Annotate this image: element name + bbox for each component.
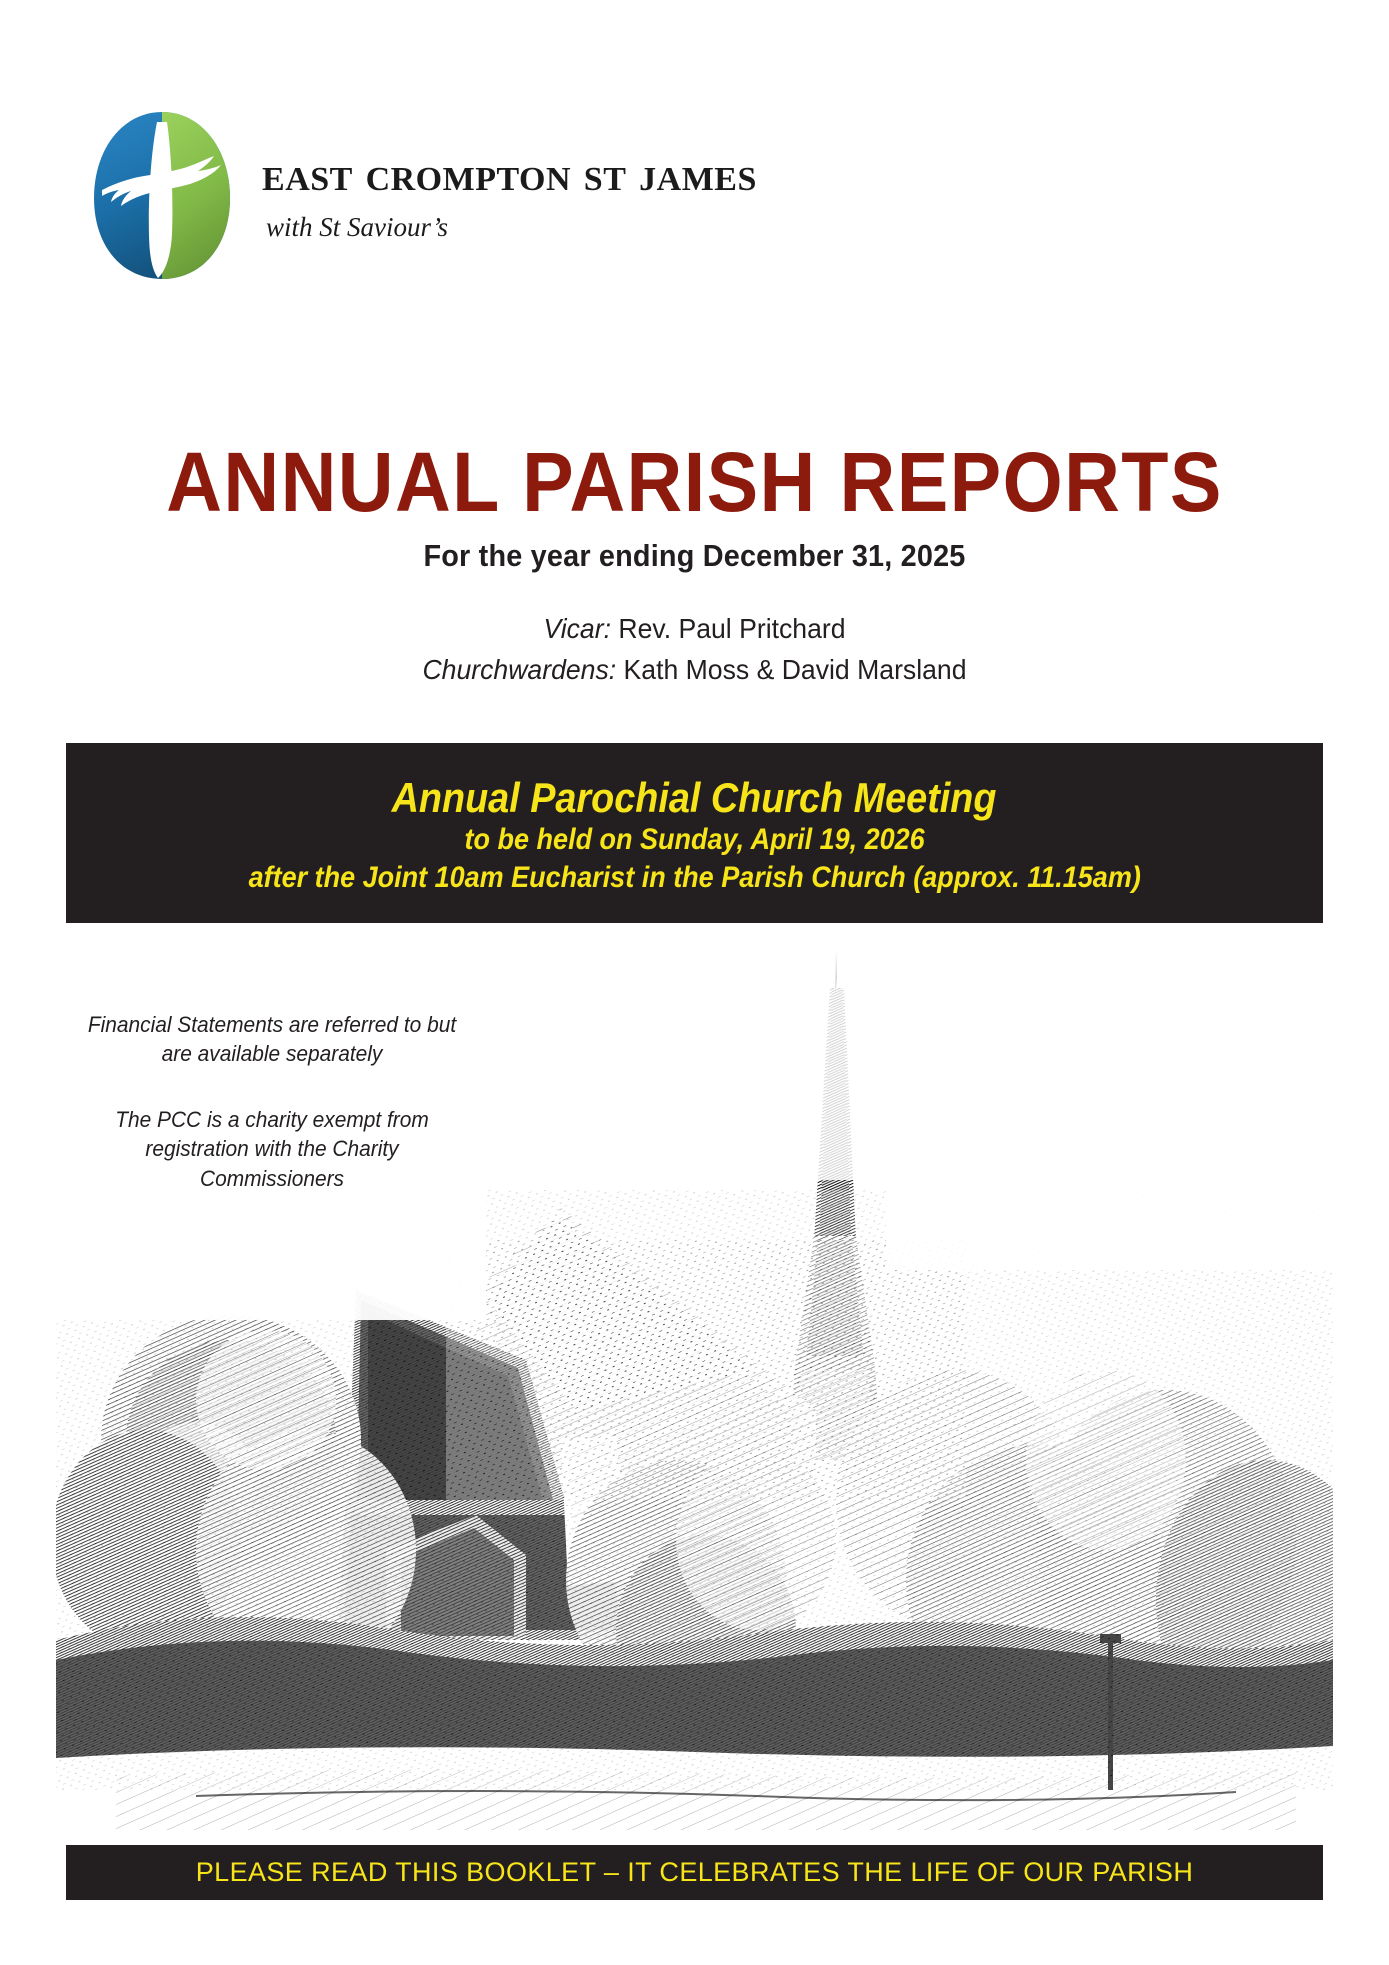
clergy-block: Vicar: Rev. Paul Pritchard Churchwardens… xyxy=(35,608,1355,690)
meeting-date: to be held on Sunday, April 19, 2026 xyxy=(464,821,924,859)
title-block: ANNUAL PARISH REPORTS For the year endin… xyxy=(0,440,1389,574)
churchwardens-line: Churchwardens: Kath Moss & David Marslan… xyxy=(35,649,1355,690)
church-subname: with St Saviour’s xyxy=(266,212,757,243)
church-name: East Crompton St James xyxy=(262,148,757,199)
notes-block: Financial Statements are referred to but… xyxy=(62,1010,482,1193)
vicar-name: Rev. Paul Pritchard xyxy=(618,613,845,644)
footer-banner-text: PLEASE READ THIS BOOKLET – IT CELEBRATES… xyxy=(196,1857,1193,1888)
financial-statements-note: Financial Statements are referred to but… xyxy=(73,1010,472,1069)
meeting-banner: Annual Parochial Church Meeting to be he… xyxy=(66,743,1323,923)
charity-exemption-note: The PCC is a charity exempt from registr… xyxy=(73,1105,472,1193)
page-title: ANNUAL PARISH REPORTS xyxy=(56,440,1334,524)
page-subtitle: For the year ending December 31, 2025 xyxy=(49,538,1341,574)
logo-text-block: East Crompton St James with St Saviour’s xyxy=(262,148,757,242)
header: East Crompton St James with St Saviour’s xyxy=(88,108,757,283)
vicar-label: Vicar: xyxy=(543,613,611,644)
churchwardens-label: Churchwardens: xyxy=(422,654,616,685)
document-page: East Crompton St James with St Saviour’s… xyxy=(0,0,1389,1965)
footer-banner: PLEASE READ THIS BOOKLET – IT CELEBRATES… xyxy=(66,1845,1323,1900)
meeting-details: after the Joint 10am Eucharist in the Pa… xyxy=(248,859,1140,897)
meeting-title: Annual Parochial Church Meeting xyxy=(392,774,997,821)
vicar-line: Vicar: Rev. Paul Pritchard xyxy=(35,608,1355,649)
churchwardens-names: Kath Moss & David Marsland xyxy=(624,654,967,685)
church-cross-dove-logo-icon xyxy=(88,108,236,283)
